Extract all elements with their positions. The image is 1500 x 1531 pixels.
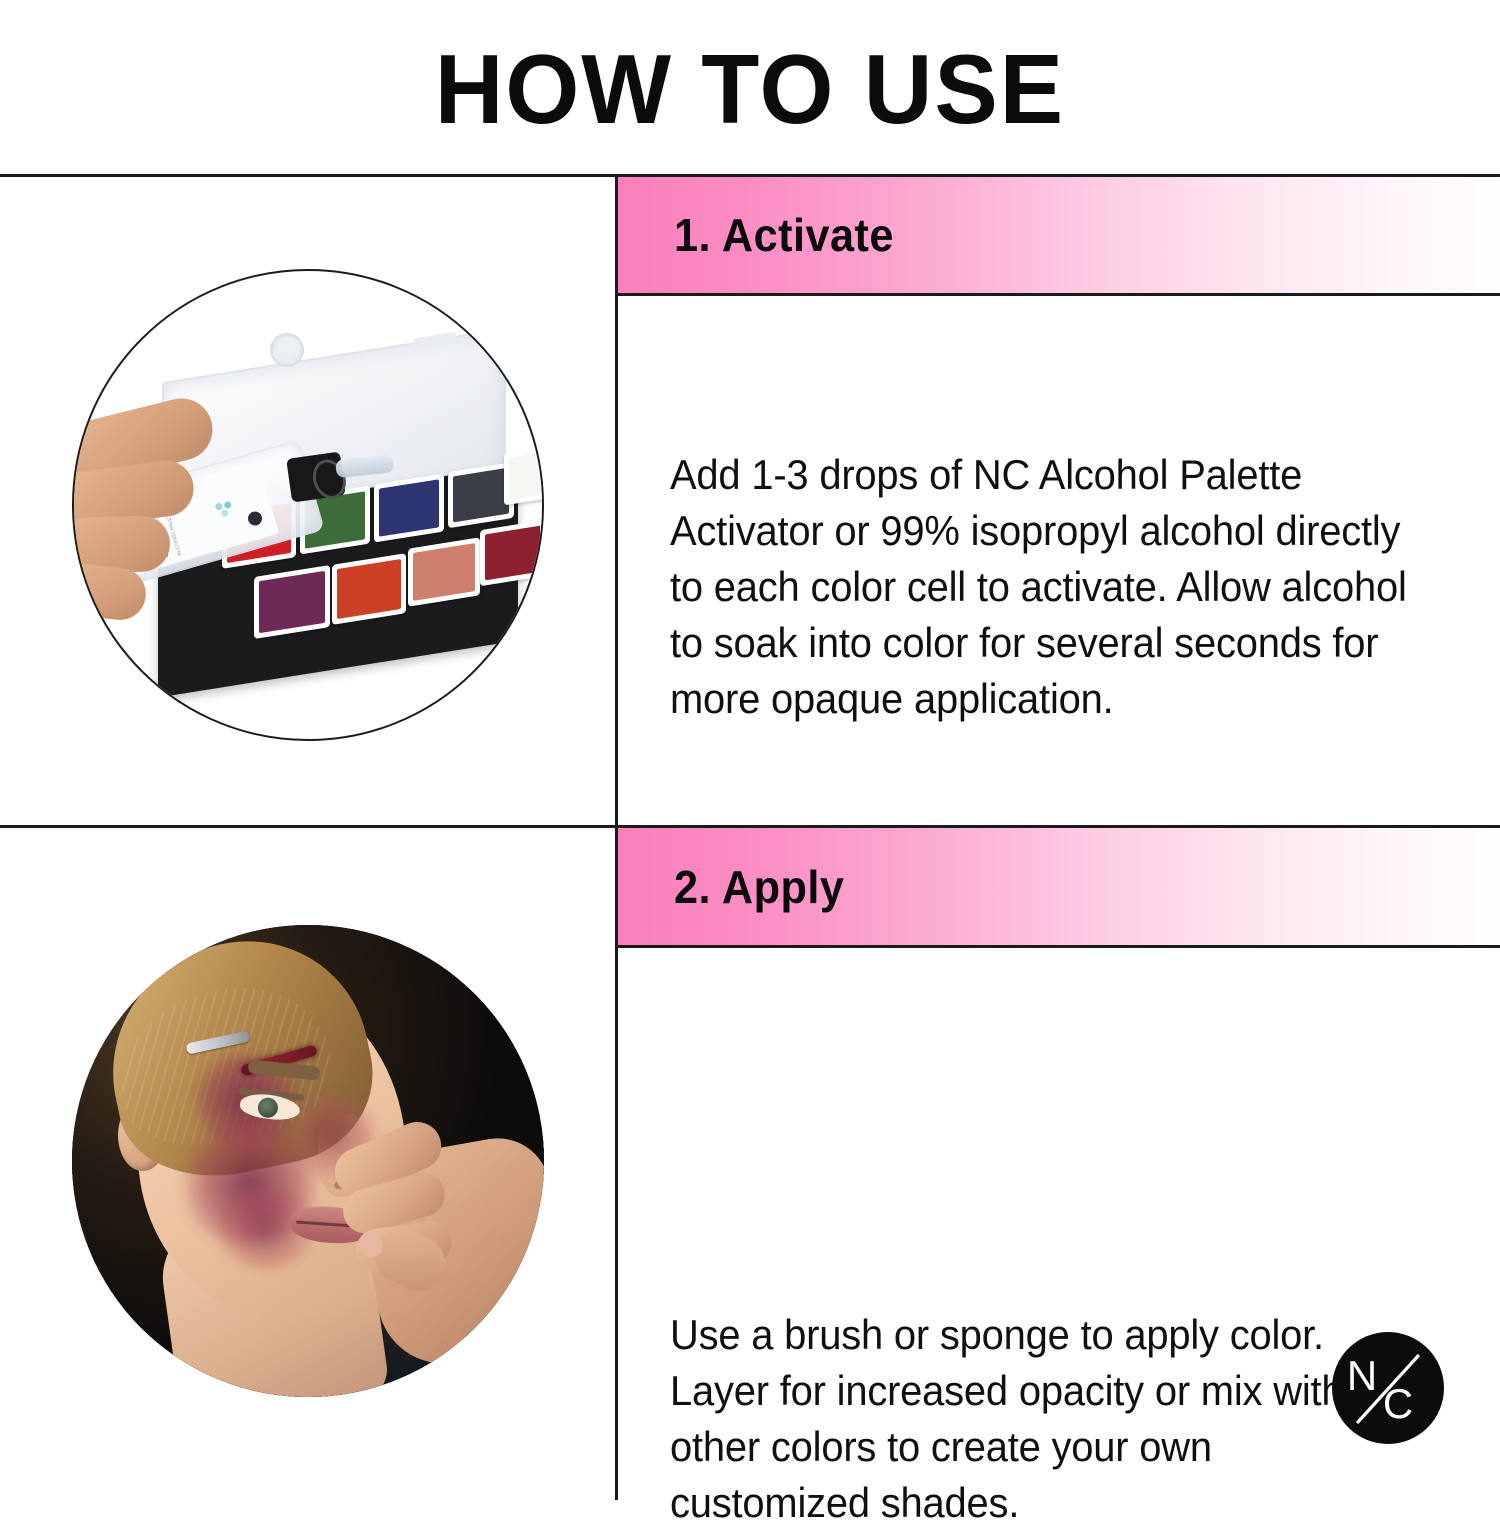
step-2-label: 2. Apply (674, 862, 844, 912)
sfx-application-illustration (72, 925, 544, 1397)
page-title: HOW TO USE (0, 0, 1500, 177)
step-2-photo (72, 925, 544, 1397)
palette-pan (540, 507, 544, 566)
step-1-media-cell: ACTIVATOR 2 FL. OZ. (60 ML) ALCOHOL PALE… (0, 177, 615, 825)
step-1-photo: ACTIVATOR 2 FL. OZ. (60 ML) ALCOHOL PALE… (72, 269, 544, 741)
activator-palette-illustration: ACTIVATOR 2 FL. OZ. (60 ML) ALCOHOL PALE… (74, 271, 542, 739)
palette-pan (374, 473, 444, 542)
step-1-content-cell: 1. Activate Add 1-3 drops of NC Alcohol … (618, 177, 1500, 825)
how-to-use-grid: ACTIVATOR 2 FL. OZ. (60 ML) ALCOHOL PALE… (0, 177, 1500, 1500)
palette-pan (332, 553, 406, 625)
step-1-header-bar: 1. Activate (618, 177, 1500, 293)
palette-lid-logo-icon (270, 333, 304, 367)
step-1-label: 1. Activate (674, 210, 894, 260)
artist-hand (312, 1101, 538, 1381)
model-iris (256, 1097, 278, 1119)
step-2-header-bar: 2. Apply (618, 828, 1500, 945)
nc-brand-logo: N C (1332, 1332, 1444, 1444)
step-1-body-text: Add 1-3 drops of NC Alcohol Palette Acti… (670, 447, 1421, 727)
step-2-body-text: Use a brush or sponge to apply color. La… (670, 1307, 1421, 1531)
nc-logo-letter-c: C (1383, 1380, 1413, 1427)
palette-pan (408, 537, 480, 606)
nc-logo-letter-n: N (1347, 1352, 1377, 1399)
palette-pan (504, 445, 544, 506)
palette-pan (480, 520, 544, 586)
hand-holding-bottle (74, 401, 314, 651)
nc-logo-mark-icon: N C (1332, 1332, 1444, 1444)
palette-lid-notch (414, 332, 456, 348)
step-2-media-cell (0, 828, 615, 1500)
page-title-text: HOW TO USE (435, 39, 1065, 139)
